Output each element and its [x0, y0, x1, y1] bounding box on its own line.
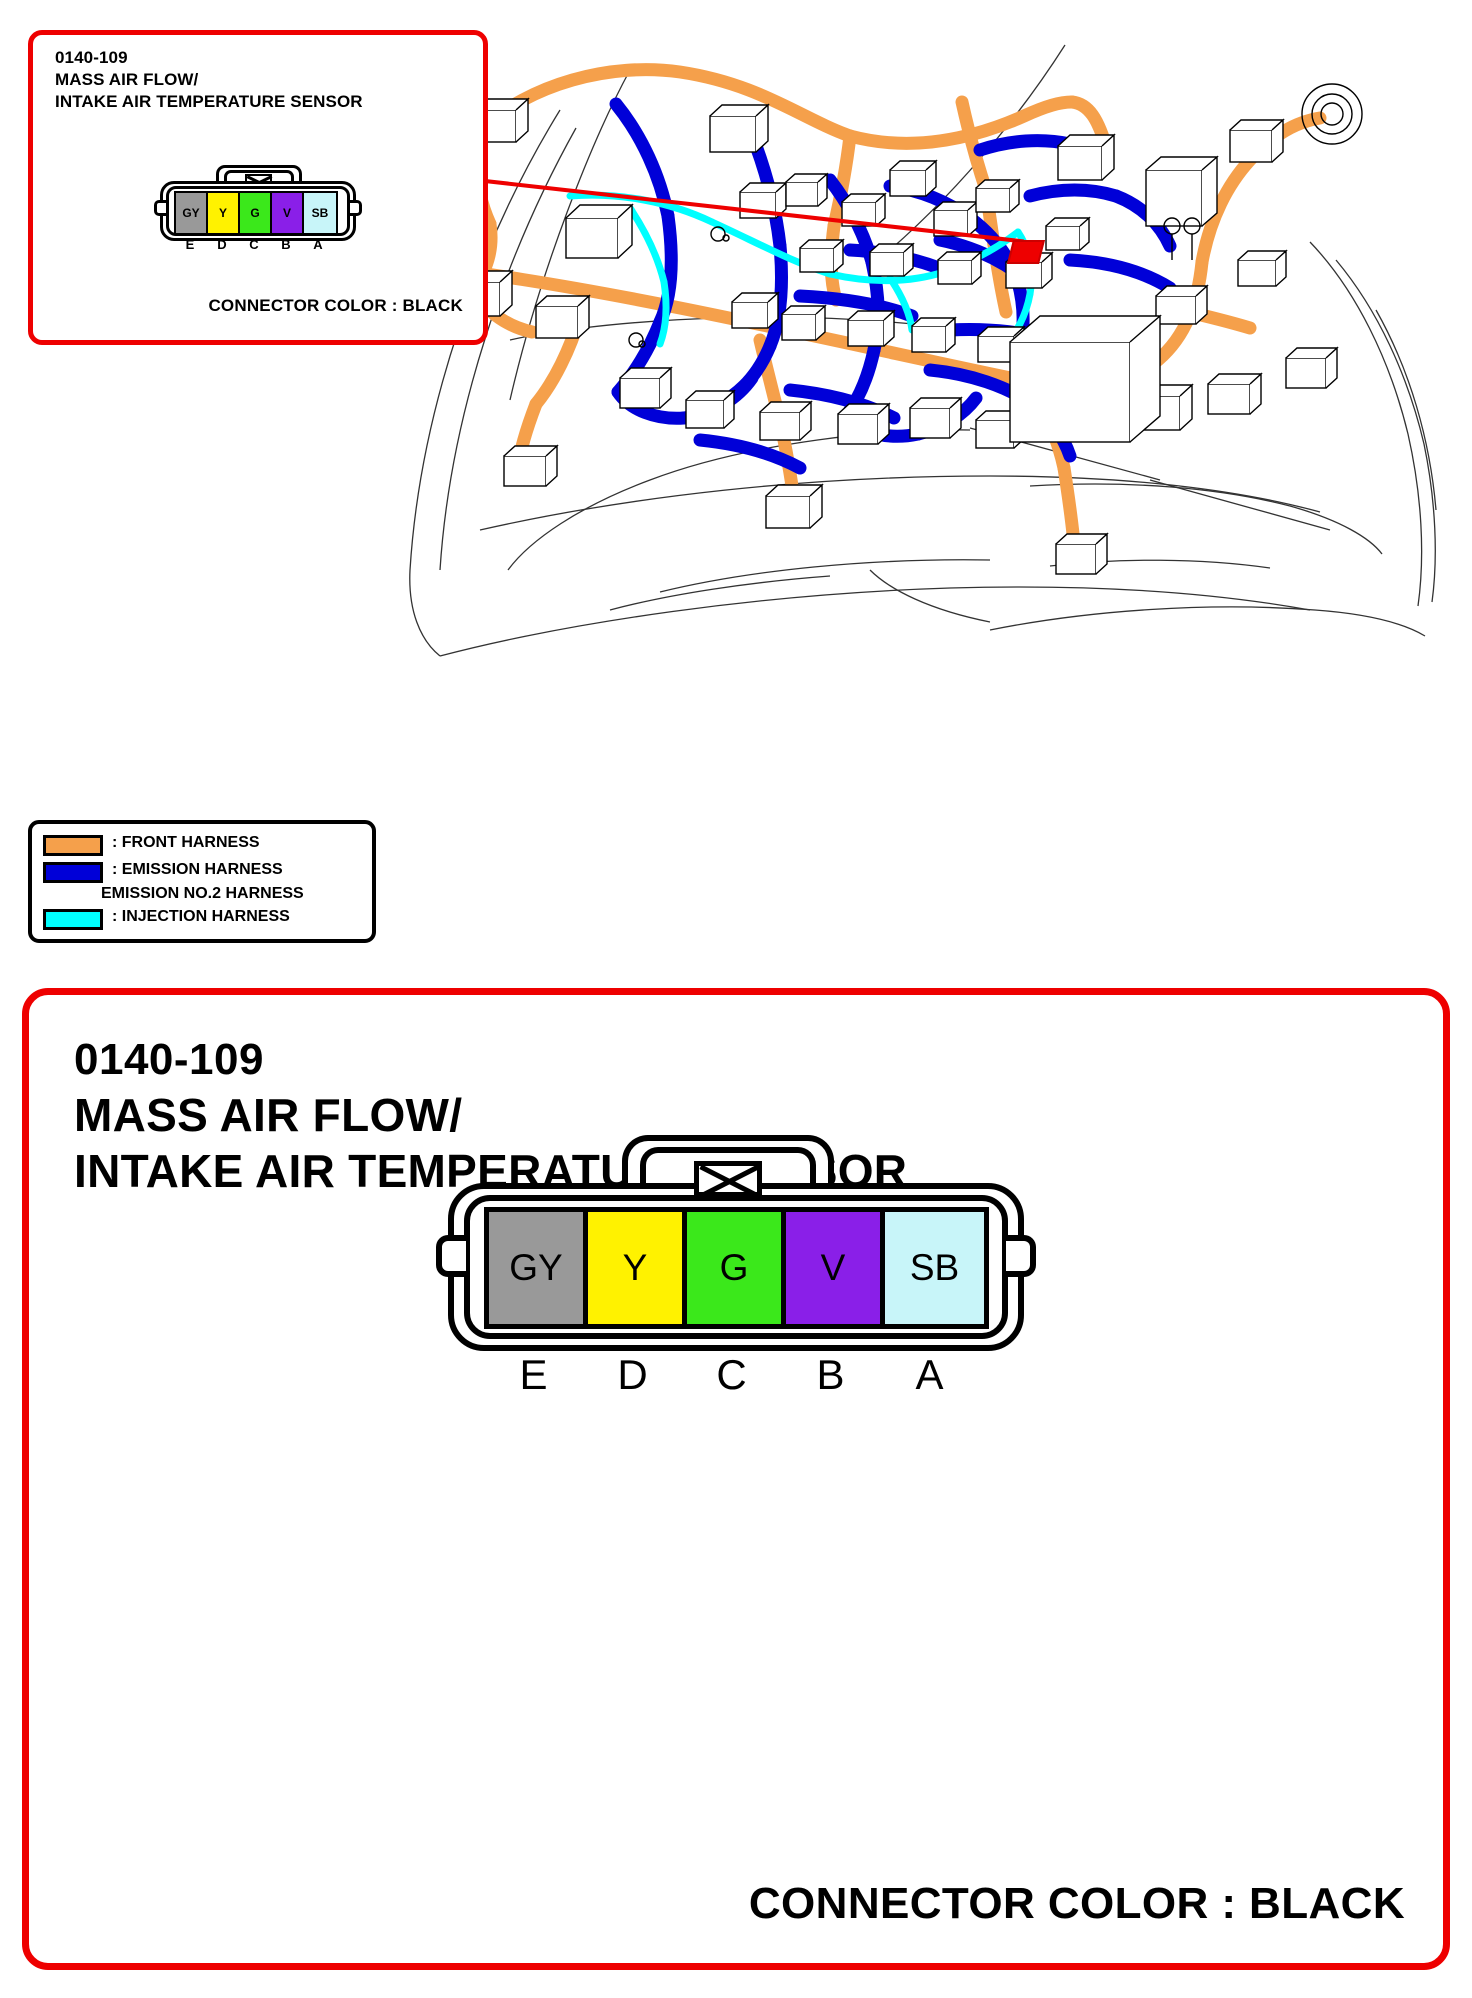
main-connector-diagram: GYYGVSB EDCBA: [436, 1135, 1036, 1415]
pin-label-a: A: [302, 237, 334, 252]
inset-connector-diagram: GYYGVSB EDCBA: [154, 165, 362, 243]
legend-row-1: : FRONT HARNESS: [32, 832, 372, 856]
connector-ear-left: [436, 1235, 466, 1277]
legend-swatch-3: [43, 909, 103, 930]
connector-ear-right: [1006, 1235, 1036, 1277]
connector-pin-c: G: [240, 193, 272, 233]
pin-label-d: D: [583, 1351, 682, 1399]
pin-label-c: C: [238, 237, 270, 252]
pin-label-d: D: [206, 237, 238, 252]
engine-bay-harness-illustration: [330, 10, 1460, 670]
inset-pin-row: GYYGVSB: [174, 191, 338, 235]
inset-code: 0140-109: [55, 47, 363, 69]
legend-sublabel-2: EMISSION NO.2 HARNESS: [101, 883, 372, 904]
connector-location-marker: [1007, 240, 1045, 264]
connector-latch-icon: [694, 1161, 762, 1197]
connector-pin-a: SB: [304, 193, 336, 233]
inset-title-block: 0140-109 MASS AIR FLOW/ INTAKE AIR TEMPE…: [55, 47, 363, 112]
pin-label-a: A: [880, 1351, 979, 1399]
connector-color-label: CONNECTOR COLOR : BLACK: [749, 1879, 1405, 1929]
harness-connector-blocks: [454, 99, 1337, 574]
inset-line1: MASS AIR FLOW/: [55, 69, 363, 91]
inset-line2: INTAKE AIR TEMPERATURE SENSOR: [55, 91, 363, 113]
inset-pin-label-row: EDCBA: [174, 237, 334, 252]
legend-row-3: : INJECTION HARNESS: [32, 906, 372, 930]
main-pin-row: GYYGVSB: [484, 1207, 989, 1329]
legend-label-1: : FRONT HARNESS: [112, 832, 260, 853]
connector-pin-b: V: [272, 193, 304, 233]
main-connector-panel: 0140-109 MASS AIR FLOW/ INTAKE AIR TEMPE…: [22, 988, 1450, 1970]
connector-pin-c: G: [687, 1212, 786, 1324]
pin-label-b: B: [270, 237, 302, 252]
page-title-code: 0140-109: [74, 1033, 907, 1087]
legend-row-2: : EMISSION HARNESS: [32, 859, 372, 883]
legend-swatch-2: [43, 862, 103, 883]
harness-legend-box: : FRONT HARNESS: EMISSION HARNESSEMISSIO…: [28, 820, 376, 943]
connector-ear-left: [154, 200, 166, 216]
connector-pin-e: GY: [489, 1212, 588, 1324]
connector-pin-b: V: [786, 1212, 885, 1324]
inset-connector-color-label: CONNECTOR COLOR : BLACK: [33, 296, 463, 316]
legend-swatch-1: [43, 835, 103, 856]
pin-label-e: E: [174, 237, 206, 252]
pin-label-e: E: [484, 1351, 583, 1399]
connector-pin-a: SB: [885, 1212, 984, 1324]
legend-label-2: : EMISSION HARNESS: [112, 859, 283, 880]
connector-pin-d: Y: [208, 193, 240, 233]
connector-ear-right: [350, 200, 362, 216]
main-pin-label-row: EDCBA: [484, 1351, 979, 1399]
connector-pin-e: GY: [176, 193, 208, 233]
pin-label-b: B: [781, 1351, 880, 1399]
pin-label-c: C: [682, 1351, 781, 1399]
inset-callout-box: 0140-109 MASS AIR FLOW/ INTAKE AIR TEMPE…: [28, 30, 488, 345]
connector-pin-d: Y: [588, 1212, 687, 1324]
legend-label-3: : INJECTION HARNESS: [112, 906, 290, 927]
